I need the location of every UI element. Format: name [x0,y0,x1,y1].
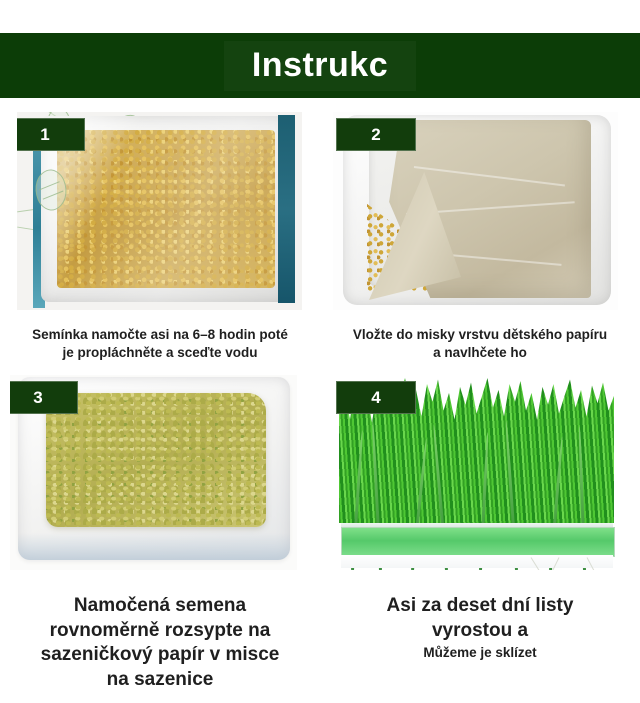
step-badge-1: 1 [17,118,85,151]
step-card-3: 3 Namočená semena rovnoměrně rozsypte na… [0,361,320,693]
page-title: Instrukc [252,43,388,87]
step-row-top: 1 Semínka namočte asi na 6–8 hodin poté … [0,98,640,361]
step-3-caption: Namočená semena rovnoměrně rozsypte na s… [0,594,320,693]
step-badge-3: 3 [10,381,78,414]
step-number-1: 1 [40,125,49,145]
step-number-2: 2 [371,125,380,145]
paper-crease [414,166,565,186]
step-2-caption: Vložte do misky vrstvu dětského papíru a… [320,326,640,361]
sprout-bed [46,393,266,527]
step-number-3: 3 [33,388,42,408]
step-number-4: 4 [371,388,380,408]
header-title-plate: Instrukc [224,41,416,91]
step-2-photo: 2 [333,112,618,310]
step-row-bottom: 3 Namočená semena rovnoměrně rozsypte na… [0,361,640,693]
step-4-photo: 4 [333,375,618,570]
step-card-2: 2 Vložte do misky vrstvu dětského papíru… [320,98,640,361]
step-4-caption: Asi za deset dní listy vyrostou a [320,594,640,643]
step-badge-4: 4 [336,381,416,414]
step-card-4: 4 Asi za deset dní listy vyrostou a Může… [320,361,640,693]
step-1-photo: 1 [17,112,302,310]
step-badge-2: 2 [336,118,416,151]
tray-rail-right [278,115,295,303]
green-growing-tray [341,527,615,557]
step-1-caption: Semínka namočte asi na 6–8 hodin poté je… [0,326,320,361]
step-card-1: 1 Semínka namočte asi na 6–8 hodin poté … [0,98,320,361]
step-3-photo: 3 [10,375,297,570]
photo-4-base [341,555,613,568]
tray-front-rim [18,533,290,560]
header-banner: Instrukc [0,33,640,98]
steps-grid: 1 Semínka namočte asi na 6–8 hodin poté … [0,98,640,693]
step-4-caption-secondary: Můžeme je sklízet [320,644,640,662]
